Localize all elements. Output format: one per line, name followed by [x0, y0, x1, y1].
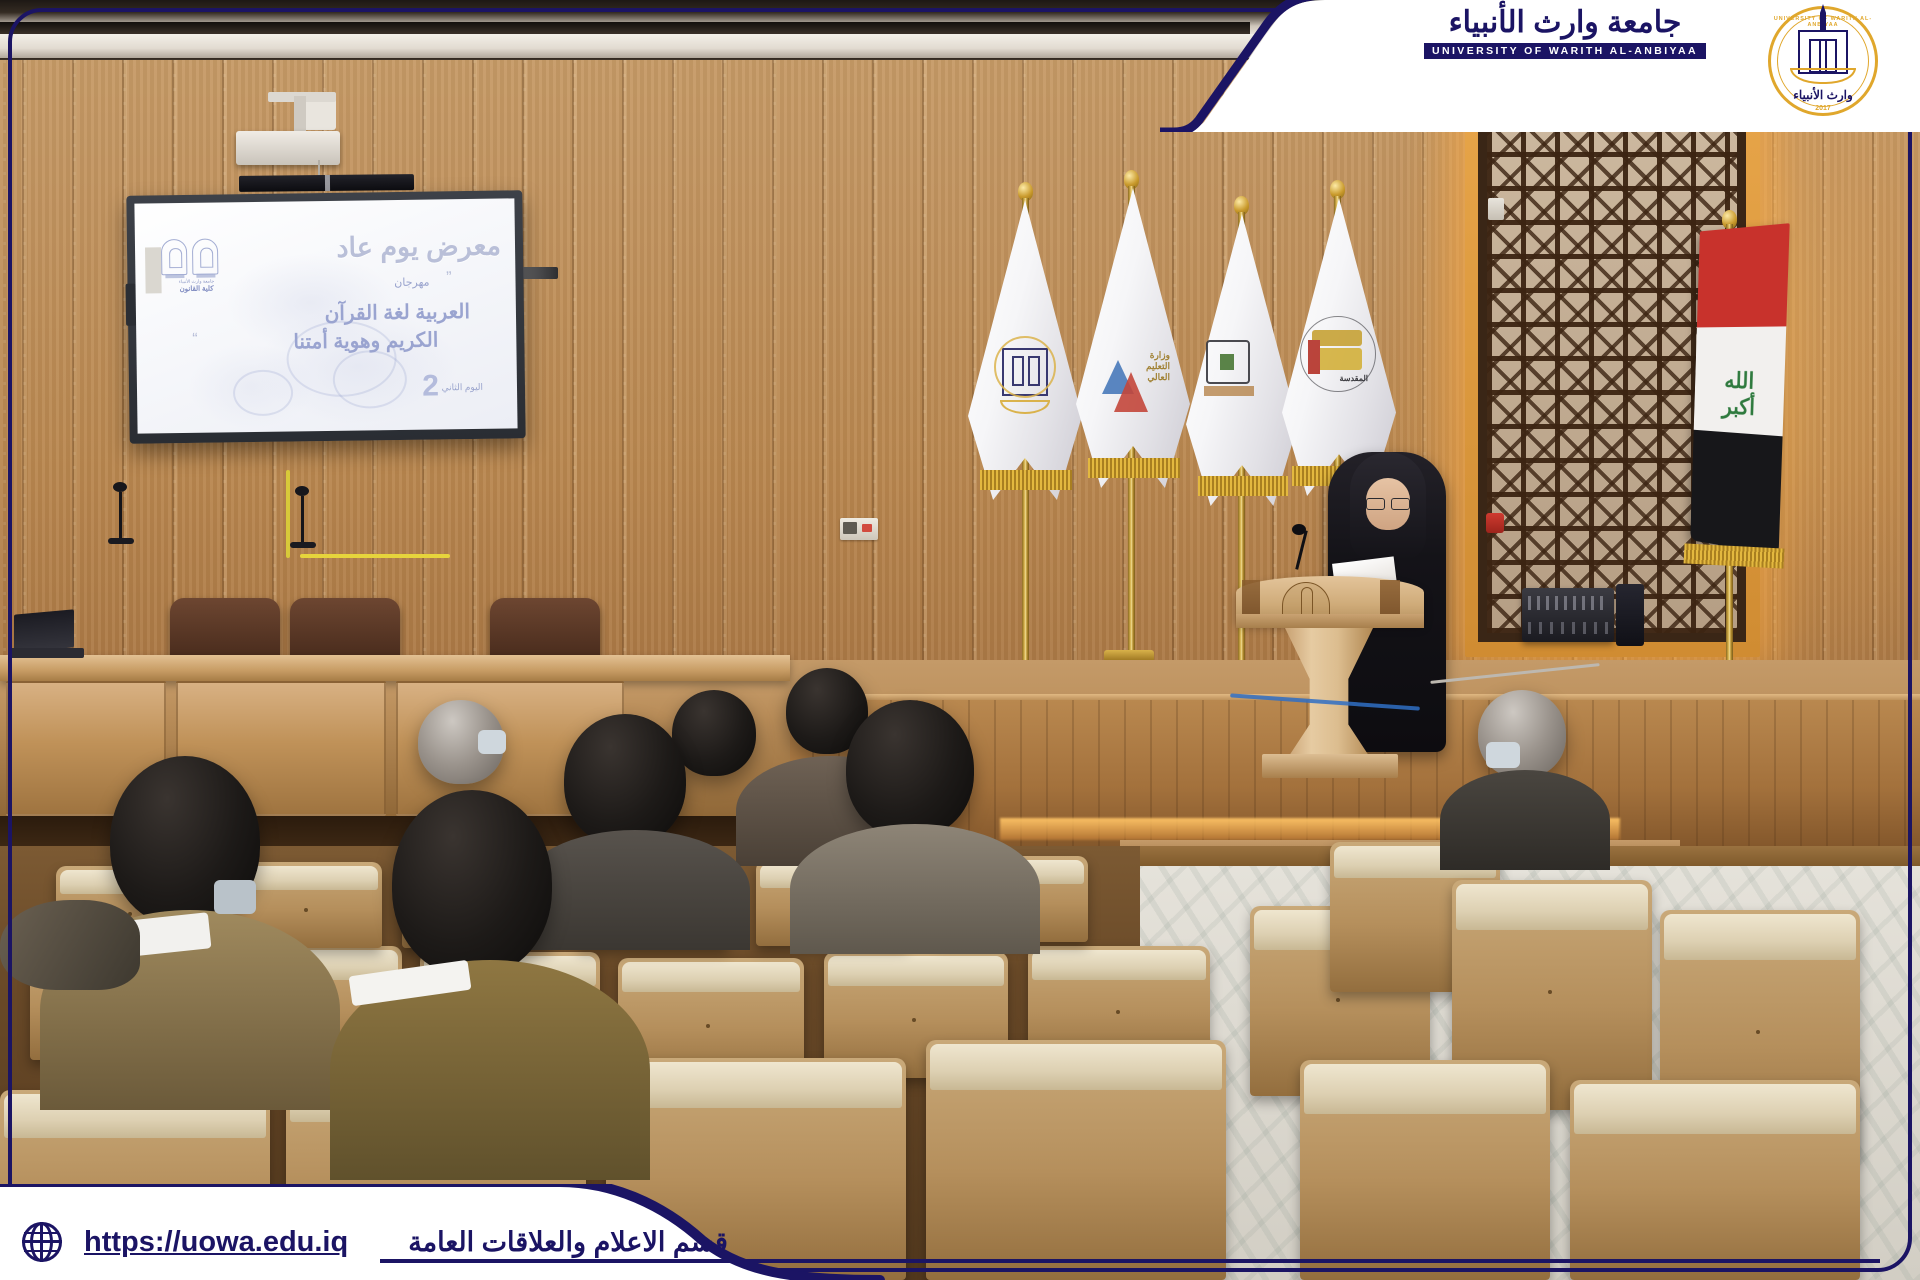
ceiling-lip [0, 34, 1260, 60]
face-mask [214, 880, 256, 914]
seal-arabic-text: وارث الأنبياء [1768, 88, 1878, 102]
projector-mount-arm [294, 96, 306, 134]
slide-day-number: 2 [422, 369, 439, 403]
university-dome-icon [161, 239, 188, 275]
flag-fringe [1088, 458, 1180, 478]
auditorium-seat [1570, 1080, 1860, 1280]
auditorium-seat [926, 1040, 1226, 1280]
laptop-lid [14, 609, 74, 652]
footer-brand-band: https://uowa.edu.iq قسم الاعلام والعلاقا… [0, 1184, 900, 1280]
slide-logo-caption: جامعة وارث الأنبياء كلية القانون [159, 278, 233, 294]
iraq-flag-takbir: الله أكبر [1711, 367, 1770, 399]
desk-microphone-stem [301, 496, 304, 542]
yellow-cable-horizontal [300, 554, 450, 558]
audio-mixer [1522, 588, 1614, 642]
desk-microphone-base [290, 542, 316, 548]
slide-headline-line2: الكريم وهوية أمتنا [293, 327, 438, 354]
audience-head [392, 790, 552, 976]
university-wordmark-english: UNIVERSITY OF WARITH AL-ANBIYAA [1424, 43, 1706, 59]
projector [236, 131, 340, 165]
slide-title: معرض يوم عاد [336, 231, 501, 264]
header-brand-band: جامعة وارث الأنبياء UNIVERSITY OF WARITH… [1160, 0, 1920, 132]
face-mask [478, 730, 506, 754]
seal-year: 2017 [1768, 105, 1878, 112]
iraq-flag-cloth: الله أكبر [1690, 223, 1789, 555]
face-mask [1486, 742, 1520, 768]
university-wordmark: جامعة وارث الأنبياء UNIVERSITY OF WARITH… [1400, 8, 1730, 72]
flag-emblem-ministry: وزارة التعليم العالي [1096, 330, 1172, 416]
wall-power-socket [840, 518, 878, 540]
podium-base [1262, 754, 1398, 778]
slide-logo-caption-line2: كلية القانون [160, 284, 234, 294]
globe-meridian [30, 1222, 53, 1262]
slide-festival-label: مهرجان [394, 276, 429, 289]
display-screen: جامعة وارث الأنبياء كلية القانون معرض يو… [134, 198, 517, 433]
slide-quote-open-icon: ” [446, 269, 452, 287]
flag-emblem-university [990, 330, 1060, 420]
audience-shoulders [1440, 770, 1610, 870]
podium-band [1236, 614, 1424, 628]
flag-fringe [1198, 476, 1288, 496]
law-college-dome-icon [192, 239, 219, 275]
audience-shoulders [790, 824, 1040, 954]
desk-microphone-stem [119, 492, 122, 538]
footer-rule-line [380, 1259, 1880, 1263]
soundbar [239, 174, 414, 192]
slide-institution-logos [161, 239, 218, 276]
globe-parallel-bottom [24, 1250, 59, 1252]
flag-fringe [980, 470, 1072, 490]
loudspeaker [1616, 584, 1644, 646]
desk-microphone-base [108, 538, 134, 544]
flag-emblem-holy-shrine: المقدسة [1296, 312, 1380, 404]
smart-display: جامعة وارث الأنبياء كلية القانون معرض يو… [126, 190, 525, 444]
audience-figure [0, 900, 140, 990]
audience-head [846, 700, 974, 838]
department-label: قسم الاعلام والعلاقات العامة [408, 1227, 728, 1258]
presentation-slide: جامعة وارث الأنبياء كلية القانون معرض يو… [134, 198, 517, 433]
university-seal-logo: UNIVERSITY OF WARITH AL-ANBIYAA وارث الأ… [1768, 6, 1878, 116]
globe-parallel-top [24, 1232, 59, 1234]
laptop-base [8, 648, 84, 658]
slide-quote-close-icon: “ [192, 331, 198, 349]
desk-microphone-head [295, 486, 309, 496]
slide-headline-line1: العربية لغة القرآن [324, 299, 470, 326]
audience-head [672, 690, 756, 776]
screenshot-root: جامعة وارث الأنبياء كلية القانون معرض يو… [0, 0, 1920, 1280]
yellow-cable-vertical [286, 470, 290, 558]
globe-icon [22, 1222, 62, 1262]
panel-desk-top [0, 655, 790, 681]
display-side-button [126, 284, 137, 326]
website-url-link[interactable]: https://uowa.edu.iq [84, 1226, 348, 1259]
auditorium-seat [1300, 1060, 1550, 1280]
audience-head [564, 714, 686, 846]
desk-microphone-head [113, 482, 127, 492]
audience-shoulders [520, 830, 750, 950]
event-photograph: جامعة وارث الأنبياء كلية القانون معرض يو… [0, 0, 1920, 1280]
ceiling-slot [0, 22, 1250, 34]
fire-alarm-icon [1486, 513, 1504, 533]
smoke-detector-icon [1488, 198, 1504, 220]
slide-day-label: اليوم الثاني [442, 382, 484, 394]
flag-emblem-third [1198, 330, 1270, 416]
speaker-glasses-icon [1366, 498, 1410, 508]
university-wordmark-arabic: جامعة وارث الأنبياء [1449, 8, 1682, 38]
